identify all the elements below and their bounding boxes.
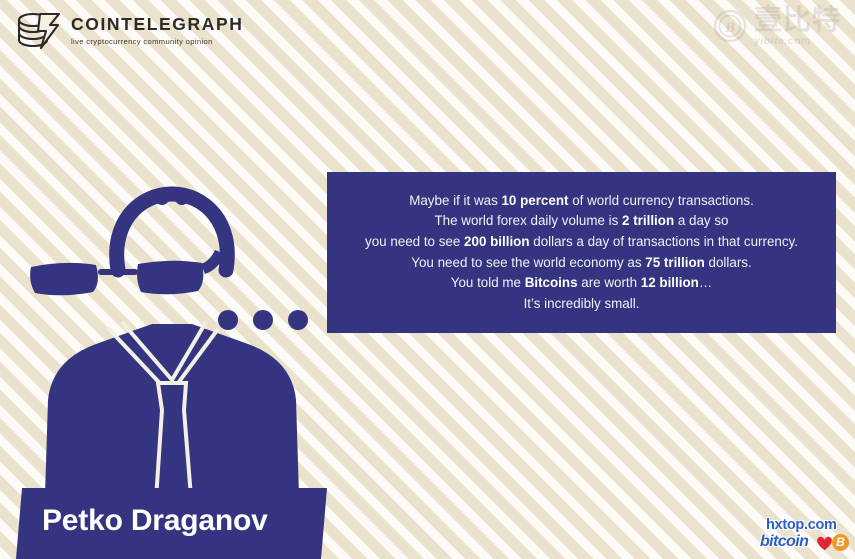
watermark-hxtop-url: hxtop.com (766, 517, 837, 533)
quote-emphasis: Bitcoins (525, 275, 578, 290)
thought-bubble-dots-icon (218, 310, 308, 330)
watermark-url-label: yibite.com (754, 36, 841, 47)
quote-text: a day so (674, 213, 728, 228)
quote-text: are worth (578, 275, 641, 290)
quote-line: You told me Bitcoins are worth 12 billio… (451, 273, 712, 294)
svg-text:B: B (724, 20, 735, 36)
quote-line: The world forex daily volume is 2 trilli… (435, 211, 729, 232)
quote-line: It’s incredibly small. (524, 294, 640, 315)
watermark-yibite-text: 壹比特 yibite.com (754, 6, 841, 47)
quote-text: dollars a day of transactions in that cu… (530, 234, 798, 249)
glasses-icon (30, 250, 225, 295)
brand-tagline: live cryptocurrency community opinion (71, 38, 243, 46)
brand-text: COINTELEGRAPH live cryptocurrency commun… (71, 16, 243, 45)
brand-name: COINTELEGRAPH (71, 16, 243, 34)
quote-text: You need to see the world economy as (411, 255, 645, 270)
watermark-yibite: B 壹比特 yibite.com (713, 6, 841, 47)
quote-line: Maybe if it was 10 percent of world curr… (409, 191, 754, 212)
watermark-chinese-label: 壹比特 (754, 6, 841, 34)
heart-icon (816, 535, 833, 551)
quote-text: You told me (451, 275, 525, 290)
watermark-hxtop-word: bitcoin (760, 533, 808, 551)
watermark-hxtop: hxtop.com bitcoin B (758, 515, 850, 555)
quote-text: dollars. (705, 255, 752, 270)
quote-box: Maybe if it was 10 percent of world curr… (327, 172, 836, 333)
quote-line: you need to see 200 billion dollars a da… (365, 232, 798, 253)
bitcoin-circle-icon: B (713, 9, 747, 43)
quote-text: It’s incredibly small. (524, 296, 640, 311)
cointelegraph-logo[interactable]: COINTELEGRAPH live cryptocurrency commun… (14, 10, 243, 52)
quote-emphasis: 2 trillion (622, 213, 674, 228)
quote-text: … (699, 275, 712, 290)
speaker-name: Petko Draganov (42, 504, 268, 538)
bitcoin-badge-icon: B (832, 534, 849, 551)
quote-emphasis: 10 percent (501, 193, 568, 208)
quote-text: The world forex daily volume is (435, 213, 623, 228)
quote-text: of world currency transactions. (568, 193, 753, 208)
coin-stack-lightning-icon (14, 10, 62, 52)
quote-emphasis: 75 trillion (645, 255, 705, 270)
quote-emphasis: 200 billion (464, 234, 529, 249)
quote-card: COINTELEGRAPH live cryptocurrency commun… (0, 0, 855, 559)
name-banner: Petko Draganov (0, 488, 340, 559)
quote-line: You need to see the world economy as 75 … (411, 253, 751, 274)
quote-text: Maybe if it was (409, 193, 501, 208)
quote-text: you need to see (365, 234, 464, 249)
quote-emphasis: 12 billion (641, 275, 699, 290)
